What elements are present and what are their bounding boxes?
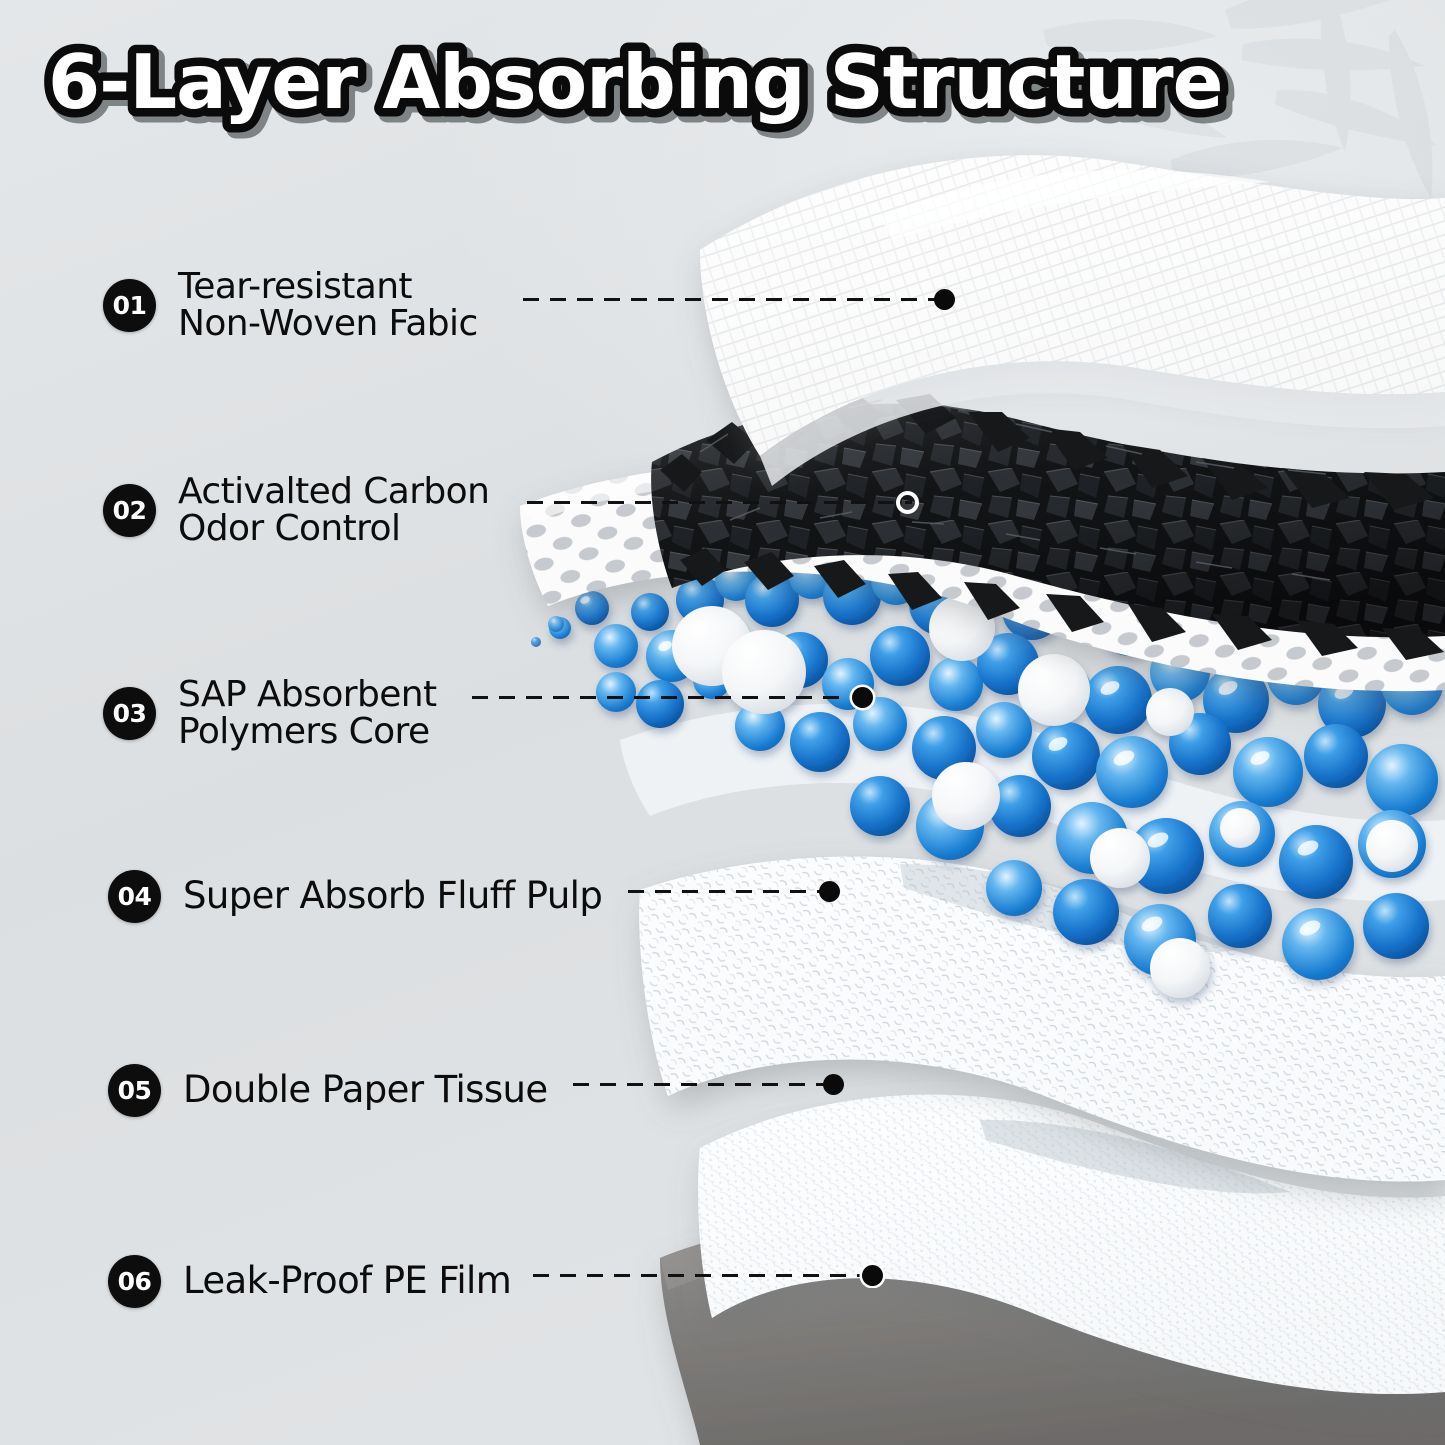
callout-label-02: Activalted Carbon Odor Control bbox=[178, 473, 489, 547]
callout-badge-03: 03 bbox=[103, 687, 156, 740]
callout-05[interactable]: 05Double Paper Tissue bbox=[108, 1064, 548, 1117]
callout-label-03: SAP Absorbent Polymers Core bbox=[178, 676, 437, 750]
leader-line-05 bbox=[573, 1083, 835, 1086]
page-title: 6-Layer Absorbing Structure 6-Layer Abso… bbox=[44, 38, 1314, 130]
callout-label-06: Leak-Proof PE Film bbox=[183, 1262, 511, 1300]
infographic-canvas: 6-Layer Absorbing Structure 6-Layer Abso… bbox=[0, 0, 1445, 1445]
leader-endpoint-06 bbox=[862, 1265, 883, 1286]
callout-04[interactable]: 04Super Absorb Fluff Pulp bbox=[108, 870, 602, 923]
leader-endpoint-05 bbox=[823, 1074, 844, 1095]
callout-badge-05: 05 bbox=[108, 1064, 161, 1117]
callout-label-05: Double Paper Tissue bbox=[183, 1071, 548, 1109]
callout-06[interactable]: 06Leak-Proof PE Film bbox=[108, 1255, 511, 1308]
title-svg: 6-Layer Absorbing Structure 6-Layer Abso… bbox=[44, 38, 1314, 130]
callout-02[interactable]: 02Activalted Carbon Odor Control bbox=[103, 473, 489, 547]
leader-endpoint-04 bbox=[819, 881, 840, 902]
callout-badge-01: 01 bbox=[103, 279, 156, 332]
leader-line-03 bbox=[472, 696, 867, 699]
callout-03[interactable]: 03SAP Absorbent Polymers Core bbox=[103, 676, 437, 750]
callout-01[interactable]: 01Tear-resistant Non-Woven Fabic bbox=[103, 268, 478, 342]
callout-badge-04: 04 bbox=[108, 870, 161, 923]
leader-line-02 bbox=[527, 501, 912, 504]
leader-endpoint-01 bbox=[934, 289, 955, 310]
title-fill: 6-Layer Absorbing Structure bbox=[48, 38, 1223, 126]
leader-endpoint-03 bbox=[852, 687, 873, 708]
leader-endpoint-02 bbox=[896, 491, 919, 514]
leader-line-01 bbox=[523, 298, 948, 301]
callout-label-04: Super Absorb Fluff Pulp bbox=[183, 877, 602, 915]
callout-label-01: Tear-resistant Non-Woven Fabic bbox=[178, 268, 478, 342]
leader-line-04 bbox=[628, 890, 830, 893]
callout-badge-06: 06 bbox=[108, 1255, 161, 1308]
leader-line-06 bbox=[533, 1274, 873, 1277]
callout-badge-02: 02 bbox=[103, 484, 156, 537]
